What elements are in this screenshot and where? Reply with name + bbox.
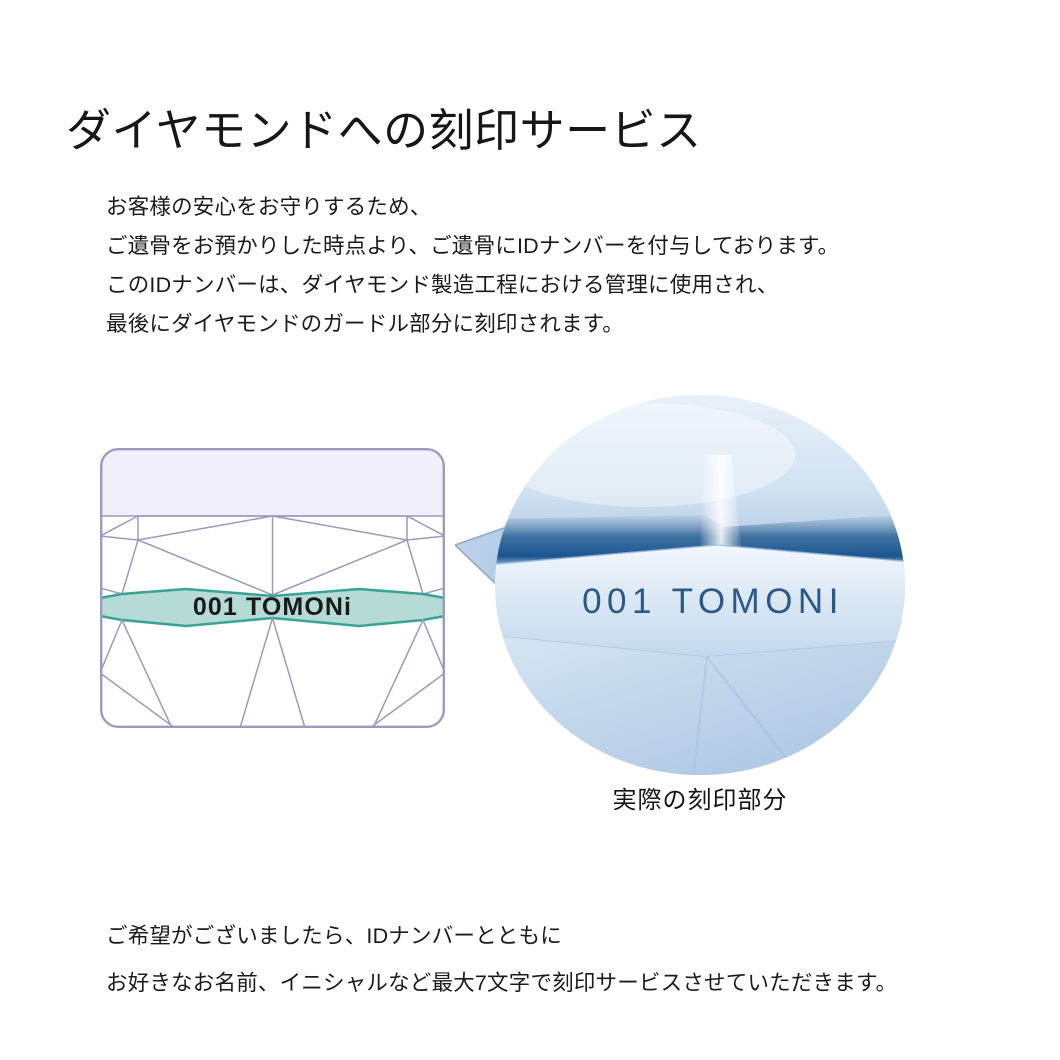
intro-line-3: このIDナンバーは、ダイヤモンド製造工程における管理に使用され、 — [106, 266, 966, 305]
intro-line-2: ご遺骨をお預かりした時点より、ご遺骨にIDナンバーを付与しております。 — [106, 227, 966, 266]
intro-paragraph: お客様の安心をお守りするため、 ご遺骨をお預かりした時点より、ご遺骨にIDナンバ… — [106, 188, 966, 344]
photo-content: 001 TOMONI — [485, 395, 925, 795]
engraving-photo-figure: 001 TOMONI — [455, 395, 955, 795]
outro-line-1: ご希望がございましたら、IDナンバーとともに — [106, 913, 986, 960]
outro-line-2: お好きなお名前、イニシャルなど最大7文字で刻印サービスさせていただきます。 — [106, 960, 986, 1007]
schematic-engraving-text: 001 TOMONi — [193, 593, 352, 621]
photo-caption: 実際の刻印部分 — [455, 780, 945, 815]
page-title: ダイヤモンドへの刻印サービス — [66, 104, 702, 158]
diamond-schematic-card: 001 TOMONi — [100, 448, 445, 728]
intro-line-1: お客様の安心をお守りするため、 — [106, 188, 966, 227]
photo-pavilion-surface — [485, 635, 925, 795]
table-facet-band — [100, 448, 445, 516]
engraving-photo-svg: 001 TOMONI — [455, 395, 955, 795]
figure-area: 001 TOMONi — [0, 395, 1060, 855]
photo-highlight — [495, 403, 795, 507]
photo-engraved-text: 001 TOMONI — [582, 582, 844, 621]
page-root: ダイヤモンドへの刻印サービス お客様の安心をお守りするため、 ご遺骨をお預かりし… — [0, 0, 1060, 1060]
intro-line-4: 最後にダイヤモンドのガードル部分に刻印されます。 — [106, 305, 966, 344]
outro-paragraph: ご希望がございましたら、IDナンバーとともに お好きなお名前、イニシャルなど最大… — [106, 913, 986, 1007]
diamond-schematic-svg: 001 TOMONi — [100, 448, 445, 728]
